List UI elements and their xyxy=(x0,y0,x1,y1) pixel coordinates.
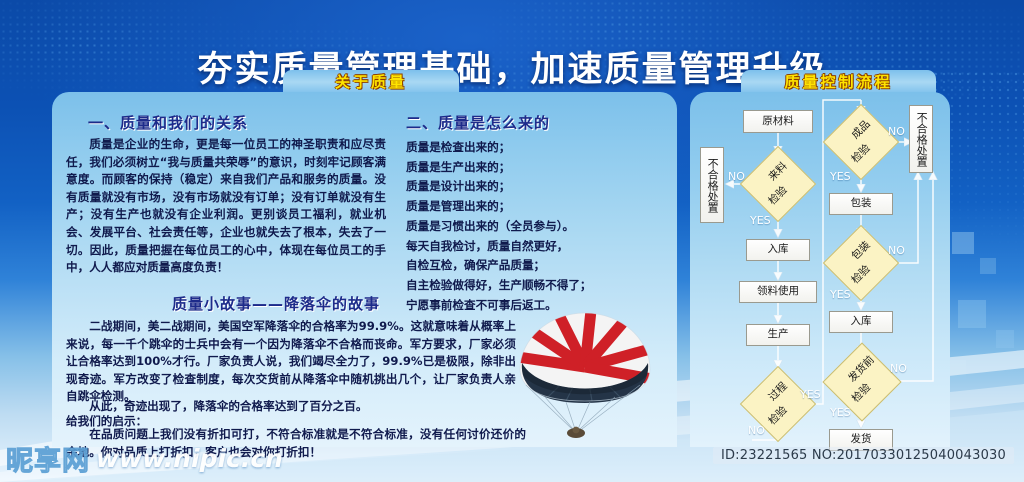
flow-node-label: 检验 xyxy=(849,263,872,286)
edge-label-no-packaging: NO xyxy=(888,244,905,257)
list-item: 每天自我检讨，质量自然更好， xyxy=(406,237,661,257)
image-id-watermark: ID:23221565 NO:20170330125040043030 xyxy=(713,447,1014,464)
list-item: 质量是设计出来的； xyxy=(406,177,661,197)
flow-node-label: 来料 xyxy=(766,161,789,184)
list-item: 质量是生产出来的； xyxy=(406,158,661,178)
edge-label-yes-finished: YES xyxy=(830,170,851,183)
flow-node-label: 过程 xyxy=(766,381,789,404)
flow-node-packaging: 包装 xyxy=(829,193,893,215)
edge-label-yes-process: YES xyxy=(800,388,821,401)
story-heading: 质量小故事——降落伞的故事 xyxy=(172,293,380,314)
edge-label-no-finished: NO xyxy=(888,125,905,138)
flow-node-label: 包装 xyxy=(849,240,872,263)
list-item: 自主检验做得好，生产顺畅不得了； xyxy=(406,276,661,296)
quality-control-flowchart: 原材料 来料检验 不合格处置 入库 领料使用 生产 过程检验 成品检验 不合格处… xyxy=(690,92,950,447)
edge-label-no-process: NO xyxy=(748,424,765,437)
badge-quality-control-flow: 质量控制流程 xyxy=(741,70,936,94)
flow-node-label: 发货前 xyxy=(847,355,878,386)
edge-label-yes-packaging: YES xyxy=(830,288,851,301)
list-item: 自检互检，确保产品质量； xyxy=(406,256,661,276)
site-watermark-url: www.nipic.cn xyxy=(96,444,283,473)
story-paragraph-1: 二战期间，美二战期间，美国空军降落伞的合格率为99.9%。这就意味着从概率上来说… xyxy=(66,318,516,406)
decor-square xyxy=(980,258,996,274)
decor-square xyxy=(996,330,1014,348)
parachute-image xyxy=(500,305,670,445)
flow-node-label: 检验 xyxy=(766,404,789,427)
poster-canvas: 夯实质量管理基础，加速质量管理升级 关于质量 质量控制流程 一、质量和我们的关系… xyxy=(0,0,1024,482)
edge-label-yes-incoming: YES xyxy=(750,214,771,227)
flow-node-nonconforming-disposal-1: 不合格处置 xyxy=(700,147,724,223)
edge-label-no-preship: NO xyxy=(890,362,907,375)
site-watermark-cn: 昵享网 xyxy=(6,439,90,478)
flow-node-label: 检验 xyxy=(766,184,789,207)
flow-node-nonconforming-disposal-2: 不合格处置 xyxy=(909,105,933,173)
section-2-list: 质量是检查出来的； 质量是生产出来的； 质量是设计出来的； 质量是管理出来的； … xyxy=(406,138,661,315)
section-1-paragraph: 质量是企业的生命，更是每一位员工的神圣职责和应尽责任，我们必须树立“我与质量共荣… xyxy=(66,136,386,277)
flow-node-production: 生产 xyxy=(746,324,810,346)
flow-node-label: 检验 xyxy=(847,378,878,409)
flow-node-label: 检验 xyxy=(849,142,872,165)
list-item: 质量是习惯出来的（全员参与）。 xyxy=(406,217,661,237)
badge-about-quality: 关于质量 xyxy=(283,70,459,94)
section-1-heading: 一、质量和我们的关系 xyxy=(88,112,248,133)
section-2-heading: 二、质量是怎么来的 xyxy=(406,112,550,133)
flow-node-warehouse-in-2: 入库 xyxy=(829,311,893,333)
edge-label-yes-preship: YES xyxy=(830,406,851,419)
flow-node-material-issue: 领料使用 xyxy=(739,281,817,303)
list-item: 质量是检查出来的； xyxy=(406,138,661,158)
decor-square xyxy=(952,232,974,254)
edge-label-no-incoming: NO xyxy=(728,170,745,183)
flow-node-label: 成品 xyxy=(849,119,872,142)
decor-square xyxy=(958,300,986,328)
flow-node-warehouse-in-1: 入库 xyxy=(746,239,810,261)
list-item: 质量是管理出来的； xyxy=(406,197,661,217)
flow-node-raw-material: 原材料 xyxy=(743,110,813,133)
site-watermark: 昵享网 www.nipic.cn xyxy=(6,439,283,478)
